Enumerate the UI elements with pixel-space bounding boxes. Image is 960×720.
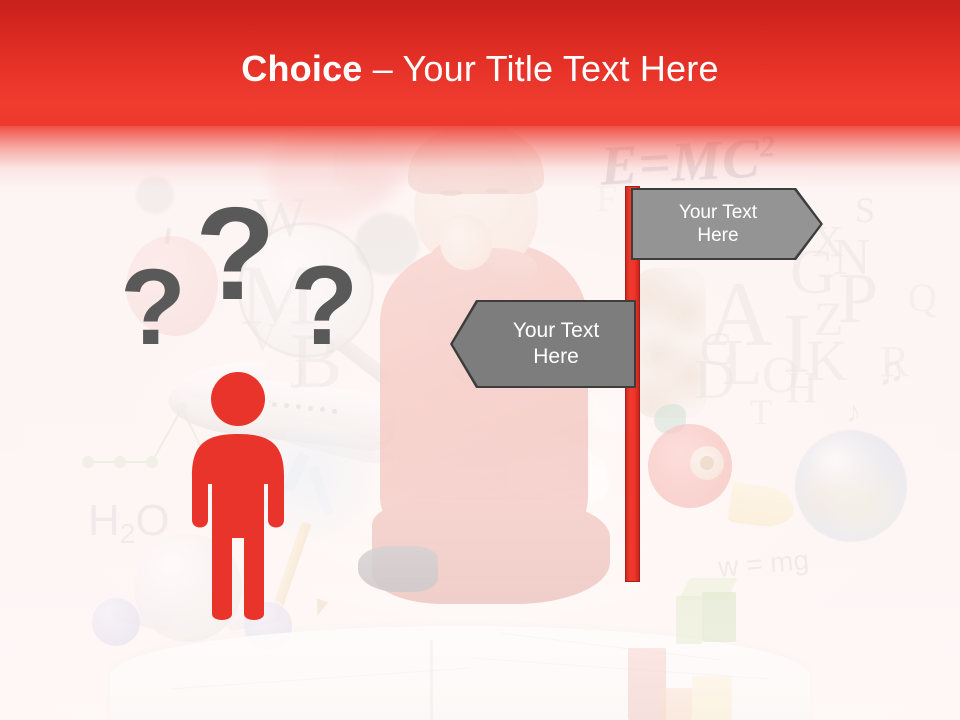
formula-water: H2O	[88, 496, 170, 550]
formula-energy-text: E=MC	[598, 127, 761, 197]
decor-letter: P	[838, 262, 878, 334]
question-mark-icon: ?	[120, 253, 186, 361]
decor-letter: Q	[908, 278, 937, 318]
earth-globe	[795, 430, 907, 542]
decorative-circle	[136, 176, 174, 214]
airplane-window	[320, 407, 325, 412]
sign-left-line1: Your Text	[513, 319, 599, 342]
sign-right-line1: Your Text	[679, 202, 757, 223]
green-cube-right	[702, 592, 736, 642]
decor-letter: E	[330, 146, 354, 186]
molecule-hydrogen-atom	[92, 598, 140, 646]
person-icon	[178, 372, 298, 620]
toy-block	[692, 676, 732, 720]
green-cube-left	[676, 596, 702, 644]
sign-left-line2: Here	[533, 345, 579, 368]
decor-letter: O	[762, 350, 800, 402]
formula-water-h: H	[88, 496, 120, 545]
sign-right-line2: Here	[697, 225, 738, 246]
child-eye	[440, 190, 462, 196]
page-title-light: Your Title Text Here	[403, 48, 719, 89]
formula-water-subscript: 2	[120, 518, 136, 549]
book-spine	[430, 640, 433, 720]
child-hair	[408, 124, 544, 194]
formula-energy-exponent: 2	[759, 130, 777, 164]
toy-block	[660, 688, 692, 720]
decor-letter: S	[855, 192, 875, 228]
music-note-icon: ♫	[873, 350, 907, 392]
bird-pupil	[700, 456, 714, 470]
child-shoe	[358, 546, 438, 592]
decor-letter: D	[694, 352, 734, 408]
formula-water-o: O	[135, 496, 169, 545]
airplane-window	[332, 409, 337, 414]
question-mark-icon: ?	[290, 250, 358, 362]
sign-right-label[interactable]: Your Text Here	[633, 190, 803, 258]
music-note-icon: ♪	[846, 398, 861, 428]
question-mark-icon: ?	[195, 188, 276, 320]
page-title-separator: –	[363, 48, 403, 89]
page-title-strong: Choice	[241, 48, 362, 89]
airplane-window	[308, 406, 313, 411]
page-title: Choice – Your Title Text Here	[0, 48, 960, 90]
slide-canvas: W M B S X N G P A I Z C L K D H T J O V …	[0, 0, 960, 720]
child-eye	[486, 188, 508, 194]
sign-left-label[interactable]: Your Text Here	[478, 302, 634, 386]
